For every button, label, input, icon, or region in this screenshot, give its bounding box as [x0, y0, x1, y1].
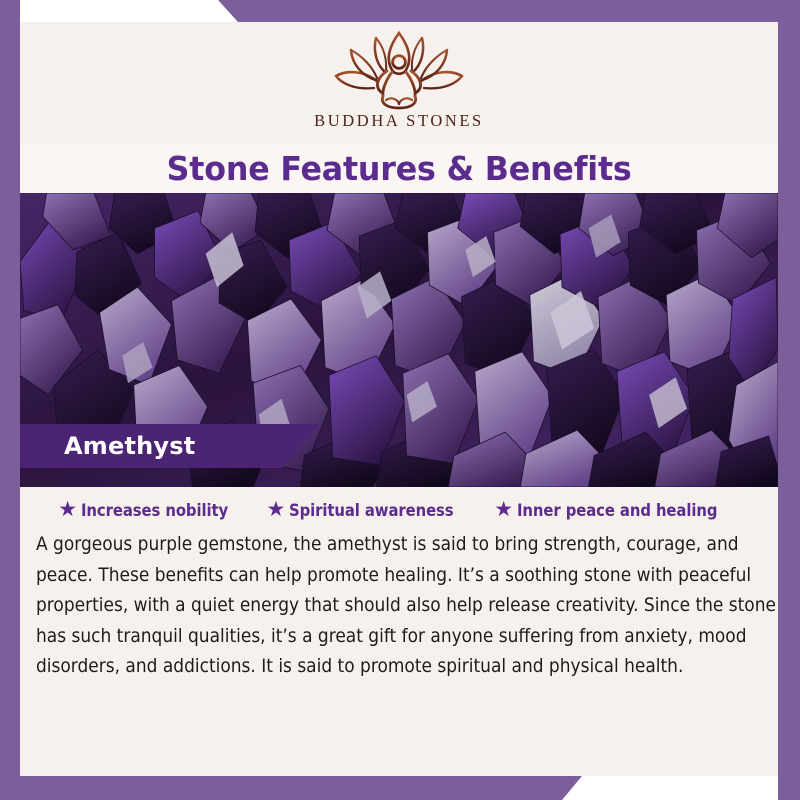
benefits-row: ★ Increases nobility ★ Spiritual awarene… [20, 492, 778, 528]
benefit-item: ★ Inner peace and healing [494, 500, 739, 521]
card-inner: BUDDHA STONES Stone Features & Benefits [20, 22, 778, 776]
stone-description: A gorgeous purple gemstone, the amethyst… [36, 530, 778, 683]
brand-name: BUDDHA STONES [314, 111, 484, 131]
star-icon: ★ [494, 499, 513, 520]
benefit-item: ★ Spiritual awareness [267, 500, 473, 521]
brand-header: BUDDHA STONES [20, 22, 778, 144]
stone-info-card: BUDDHA STONES Stone Features & Benefits [0, 0, 800, 800]
benefit-label: Spiritual awareness [289, 501, 454, 520]
page-title: Stone Features & Benefits [167, 149, 632, 188]
benefit-label: Increases nobility [81, 501, 228, 520]
stone-name: Amethyst [64, 424, 195, 468]
star-icon: ★ [58, 499, 77, 520]
lotus-meditating-figure-icon [324, 30, 474, 110]
benefit-item: ★ Increases nobility [58, 500, 244, 521]
benefit-label: Inner peace and healing [517, 501, 717, 520]
page-title-bar: Stone Features & Benefits [20, 144, 778, 193]
star-icon: ★ [267, 499, 286, 520]
stone-name-banner: Amethyst [20, 424, 320, 468]
